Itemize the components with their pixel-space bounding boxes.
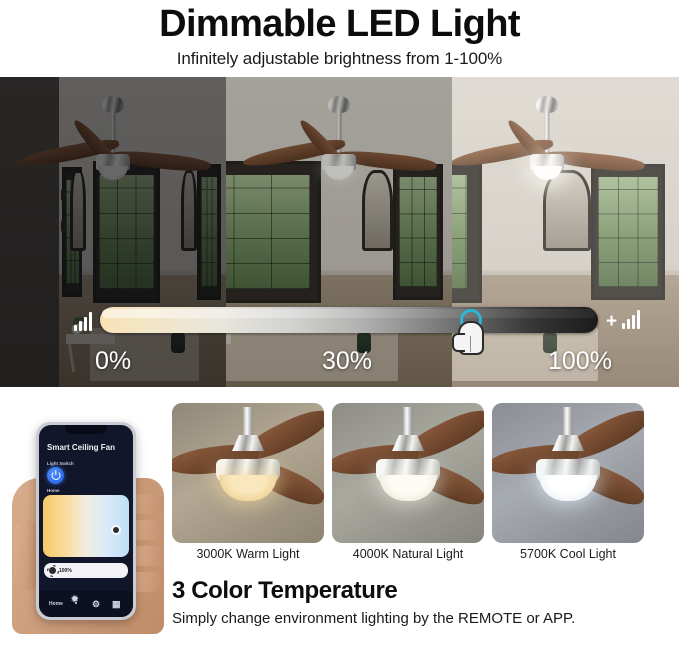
thumbnail-natural	[332, 403, 484, 543]
grid-icon	[112, 600, 120, 608]
level-label-100: 100%	[548, 347, 612, 375]
light-switch-label: Light Switch	[47, 461, 74, 466]
caption-cool: 5700K Cool Light	[492, 547, 644, 561]
lower-section: Smart Ceiling Fan Light Switch Home 100%…	[0, 395, 679, 654]
brightness-value: 100%	[59, 568, 72, 574]
hand-pointer-icon[interactable]	[452, 309, 502, 367]
signal-bars-icon	[622, 309, 640, 329]
sconce-icon	[61, 220, 66, 232]
brightness-control[interactable]: 100%	[44, 563, 128, 578]
phone-screen[interactable]: Smart Ceiling Fan Light Switch Home 100%…	[39, 425, 133, 617]
room-scene	[0, 77, 226, 387]
nav-item-home[interactable]: Home	[46, 601, 66, 607]
plus-icon: +	[606, 312, 617, 331]
color-selector-dot[interactable]	[113, 527, 119, 533]
ceiling-fan	[13, 96, 213, 206]
footer-title: 3 Color Temperature	[172, 577, 672, 605]
hand-glyph	[458, 321, 484, 355]
caption-warm: 3000K Warm Light	[172, 547, 324, 561]
brightness-slider[interactable]: +	[0, 299, 679, 339]
nav-item-settings[interactable]	[86, 600, 106, 609]
ceiling-fan-thumb	[493, 407, 643, 527]
smartphone: Smart Ceiling Fan Light Switch Home 100%…	[36, 422, 136, 620]
ceiling-fan	[452, 96, 647, 206]
nav-item-star[interactable]	[66, 599, 86, 609]
hero-panel-30-percent	[226, 77, 452, 387]
fan-light	[324, 166, 354, 180]
color-temperature-picker[interactable]	[43, 495, 129, 557]
thumbnail-captions: 3000K Warm Light 4000K Natural Light 570…	[172, 547, 672, 569]
footer-subtitle: Simply change environment lighting by th…	[172, 610, 672, 627]
fan-light	[539, 475, 597, 501]
level-label-30: 30%	[322, 347, 372, 375]
star-icon	[72, 599, 80, 607]
phone-notch	[65, 425, 107, 434]
thumbnail-warm	[172, 403, 324, 543]
level-label-0: 0%	[95, 347, 131, 375]
phone-navbar[interactable]: Home	[39, 591, 133, 617]
fan-light	[219, 475, 277, 501]
footer-block: 3 Color Temperature Simply change enviro…	[172, 577, 672, 627]
ceiling-fan-thumb	[173, 407, 323, 527]
ceiling-fan-thumb	[333, 407, 483, 527]
ceiling-fan	[239, 96, 439, 206]
home-section-label: Home	[47, 488, 60, 493]
phone-in-hand: Smart Ceiling Fan Light Switch Home 100%…	[8, 400, 168, 634]
color-temperature-thumbnails	[172, 403, 672, 553]
slider-track[interactable]	[100, 307, 598, 333]
hero-comparison-image: + 0% 30% 100%	[0, 77, 679, 387]
hero-panel-0-percent	[0, 77, 226, 387]
page-subtitle: Infinitely adjustable brightness from 1-…	[0, 46, 679, 72]
thumbnail-cool	[492, 403, 644, 543]
nav-item-grid[interactable]	[106, 600, 126, 609]
fan-light	[532, 166, 562, 180]
caption-natural: 4000K Natural Light	[332, 547, 484, 561]
header: Dimmable LED Light Infinitely adjustable…	[0, 0, 679, 72]
sun-icon	[49, 567, 56, 574]
gear-icon	[92, 600, 100, 608]
page-title: Dimmable LED Light	[0, 2, 679, 46]
fan-light	[98, 166, 128, 180]
app-title: Smart Ceiling Fan	[47, 443, 115, 452]
power-button-icon[interactable]	[47, 467, 64, 484]
fan-light	[379, 475, 437, 501]
signal-bars-icon	[74, 311, 92, 331]
